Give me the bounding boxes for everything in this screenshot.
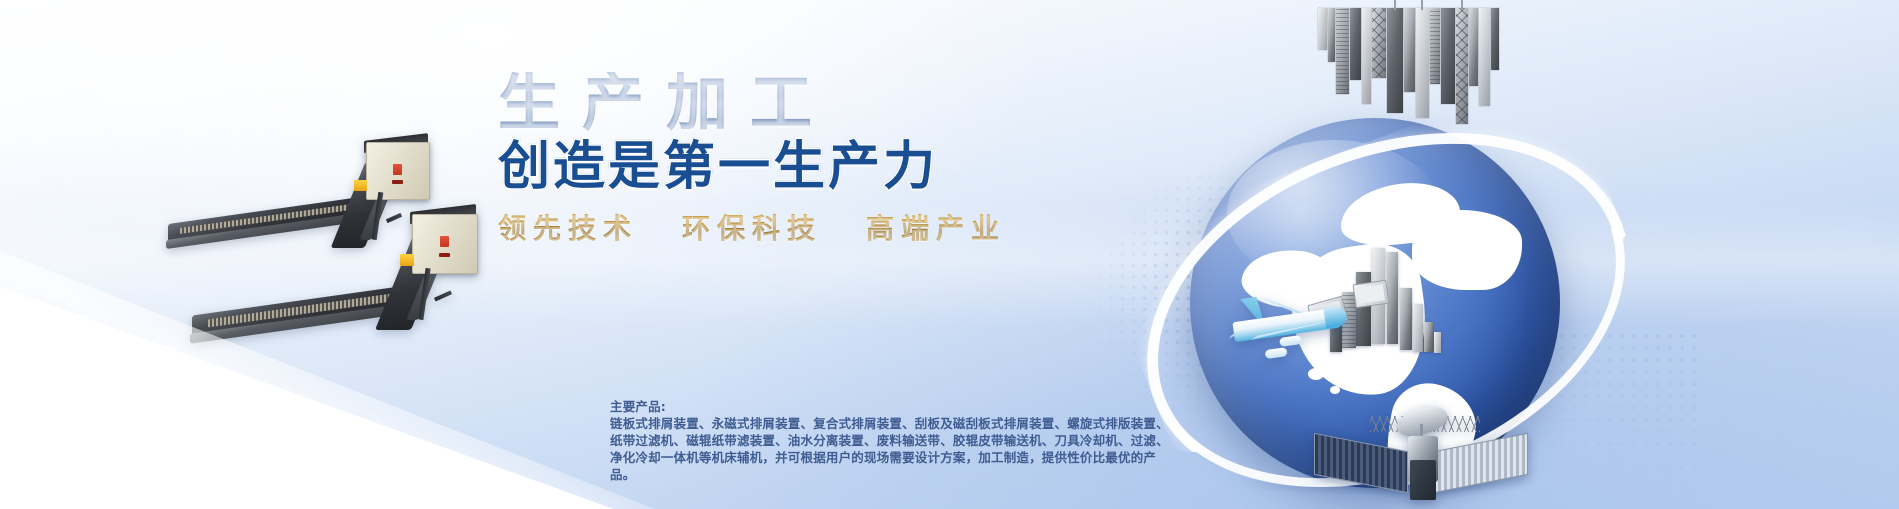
satellite-module <box>1410 460 1436 500</box>
promo-banner: 生产加工 创造是第一生产力 领先技术 环保科技 高端产业 主要产品: 链板式排屑… <box>0 0 1899 509</box>
headline-block: 生产加工 创造是第一生产力 领先技术 环保科技 高端产业 <box>498 72 1118 247</box>
sub-headline-text: 创造是第一生产力 <box>498 137 938 197</box>
tagline-high-end-industry: 高端产业 <box>866 207 1006 247</box>
satellite-solar-panel-left <box>1314 433 1408 493</box>
satellite-solar-panel-right <box>1434 433 1528 493</box>
globe-crown-cityscape <box>1314 8 1504 133</box>
satellite-icon <box>1310 398 1540 506</box>
product-description: 主要产品: 链板式排屑装置、永磁式排屑装置、复合式排屑装置、刮板及磁刮板式排屑装… <box>610 398 1170 483</box>
product-description-lead: 主要产品: <box>610 398 1170 415</box>
tagline-leading-technology: 领先技术 <box>498 207 638 247</box>
tagline-row: 领先技术 环保科技 高端产业 <box>498 207 1118 247</box>
sub-headline: 创造是第一生产力 <box>498 140 1118 195</box>
product-description-body: 链板式排屑装置、永磁式排屑装置、复合式排屑装置、刮板及磁刮板式排屑装置、螺旋式排… <box>610 415 1170 483</box>
globe-illustration <box>1130 0 1650 509</box>
machinery-illustration <box>150 120 550 370</box>
main-headline: 生产加工 <box>498 72 1118 134</box>
chip-conveyor-lower <box>182 158 522 348</box>
tagline-eco-technology: 环保科技 <box>682 207 822 247</box>
